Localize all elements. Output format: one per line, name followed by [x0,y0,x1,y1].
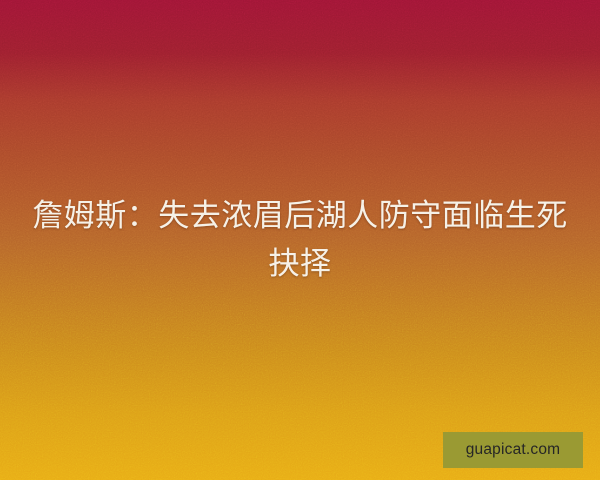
page-title: 詹姆斯：失去浓眉后湖人防守面临生死抉择 [28,192,572,288]
headline-block: 詹姆斯：失去浓眉后湖人防守面临生死抉择 [28,192,572,288]
watermark-label: guapicat.com [466,442,561,458]
image-canvas: 詹姆斯：失去浓眉后湖人防守面临生死抉择 guapicat.com [0,0,600,480]
watermark-badge: guapicat.com [443,432,583,468]
